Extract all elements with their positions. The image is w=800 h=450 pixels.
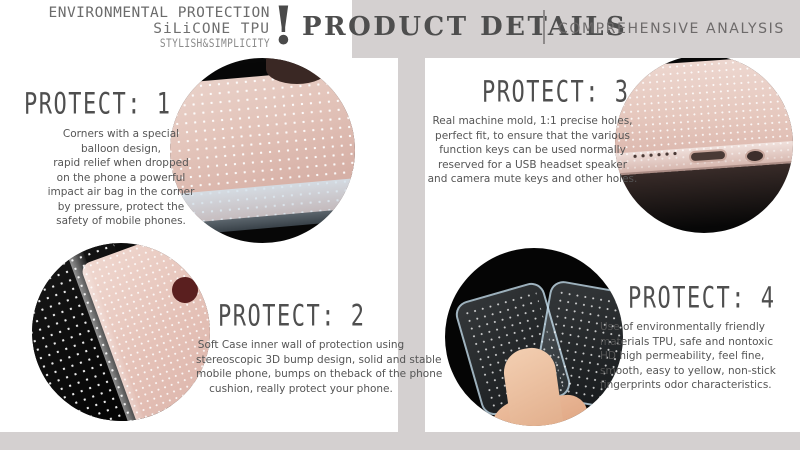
body-line: function keys can be used normally (420, 143, 645, 158)
header-vertical-rule (543, 10, 545, 44)
protect-1-title: PROTECT: 1 (24, 88, 236, 122)
protect-1-body: Corners with a special balloon design, r… (6, 127, 236, 229)
protect-4-body: Use of environmentally friendly material… (600, 320, 800, 393)
body-line: smooth, easy to yellow, non-stick (600, 364, 800, 379)
body-line: Real machine mold, 1:1 precise holes, (420, 114, 645, 129)
body-line: HD high permeability, feel fine, (600, 349, 800, 364)
body-line: Use of environmentally friendly (600, 320, 800, 335)
body-line: mobile phone, bumps on theback of the ph… (196, 367, 406, 382)
brand-line-1: ENVIRONMENTAL PROTECTION (8, 6, 270, 21)
protect-section-3: PROTECT: 3 Real machine mold, 1:1 precis… (420, 76, 645, 187)
body-line: impact air bag in the corner (6, 185, 236, 200)
body-line: Corners with a special (6, 127, 236, 142)
exclamation-mark-icon: ! (272, 4, 295, 50)
brand-line-3: STYLISH&SIMPLICITY (8, 37, 270, 52)
brand-line-2: SiLiCONE TPU (8, 21, 270, 37)
protect-3-title: PROTECT: 3 (482, 76, 645, 110)
body-line: safety of mobile phones. (6, 214, 236, 229)
body-line: cushion, really protect your phone. (196, 382, 406, 397)
body-line: Soft Case inner wall of protection using (196, 338, 406, 353)
page-subtitle: COMPREHENSIVE ANALYSIS (558, 21, 785, 37)
body-line: materials TPU, safe and nontoxic (600, 335, 800, 350)
infographic-page: ENVIRONMENTAL PROTECTION SiLiCONE TPU ST… (0, 0, 800, 450)
bottom-band (0, 432, 800, 450)
brand-block: ENVIRONMENTAL PROTECTION SiLiCONE TPU ST… (8, 6, 270, 54)
header: ENVIRONMENTAL PROTECTION SiLiCONE TPU ST… (0, 0, 800, 58)
body-line: rapid relief when dropped (6, 156, 236, 171)
body-line: and camera mute keys and other holes. (420, 172, 645, 187)
body-line: balloon design, (6, 142, 236, 157)
body-line: on the phone a powerful (6, 171, 236, 186)
body-line: by pressure, protect the (6, 200, 236, 215)
protect-section-4: PROTECT: 4 Use of environmentally friend… (600, 282, 800, 393)
body-line: stereoscopic 3D bump design, solid and s… (196, 353, 406, 368)
body-line: perfect fit, to ensure that the various (420, 129, 645, 144)
hand-flexing-clear-cases-photo (445, 248, 623, 426)
protect-2-title: PROTECT: 2 (218, 300, 406, 334)
black-and-rose-case-bump-photo (32, 243, 210, 421)
protect-section-2: PROTECT: 2 Soft Case inner wall of prote… (196, 300, 406, 396)
protect-2-body: Soft Case inner wall of protection using… (196, 338, 406, 396)
body-line: fingerprints odor characteristics. (600, 378, 800, 393)
protect-4-title: PROTECT: 4 (628, 282, 800, 316)
body-line: reserved for a USB headset speaker (420, 158, 645, 173)
protect-3-body: Real machine mold, 1:1 precise holes, pe… (420, 114, 645, 187)
protect-section-1: PROTECT: 1 Corners with a special balloo… (6, 88, 236, 229)
